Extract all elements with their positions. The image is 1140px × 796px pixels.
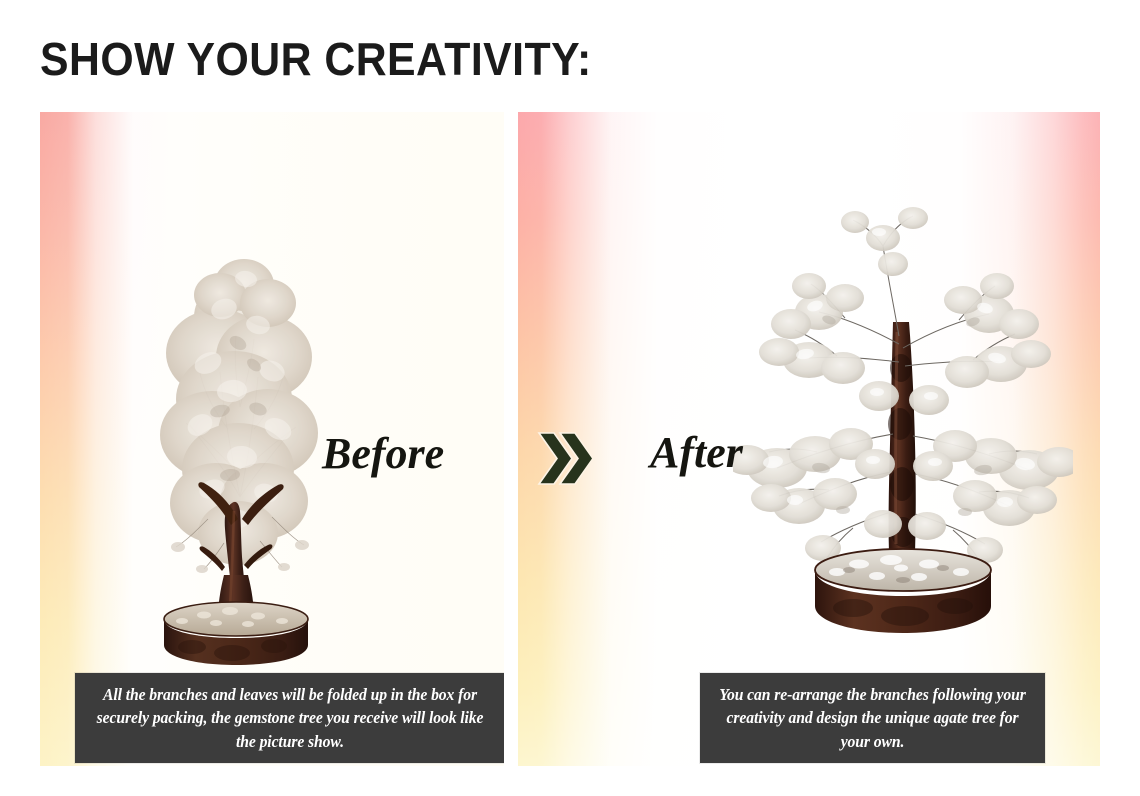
chevron-right-icon-2: [557, 431, 597, 487]
double-chevron-right-icon: [536, 431, 608, 487]
before-label: Before: [322, 428, 444, 479]
after-label: After: [650, 427, 743, 478]
gemstone-tree-arranged-image: [733, 172, 1073, 672]
before-caption-text: All the branches and leaves will be fold…: [95, 683, 485, 753]
gemstone-tree-folded-image: [112, 167, 382, 667]
page-title: SHOW YOUR CREATIVITY:: [40, 32, 592, 86]
creativity-comparison-page: SHOW YOUR CREATIVITY:: [0, 0, 1140, 796]
after-caption-box: You can re-arrange the branches followin…: [700, 673, 1045, 763]
before-caption-box: All the branches and leaves will be fold…: [75, 673, 504, 763]
after-caption-text: You can re-arrange the branches followin…: [718, 683, 1027, 753]
